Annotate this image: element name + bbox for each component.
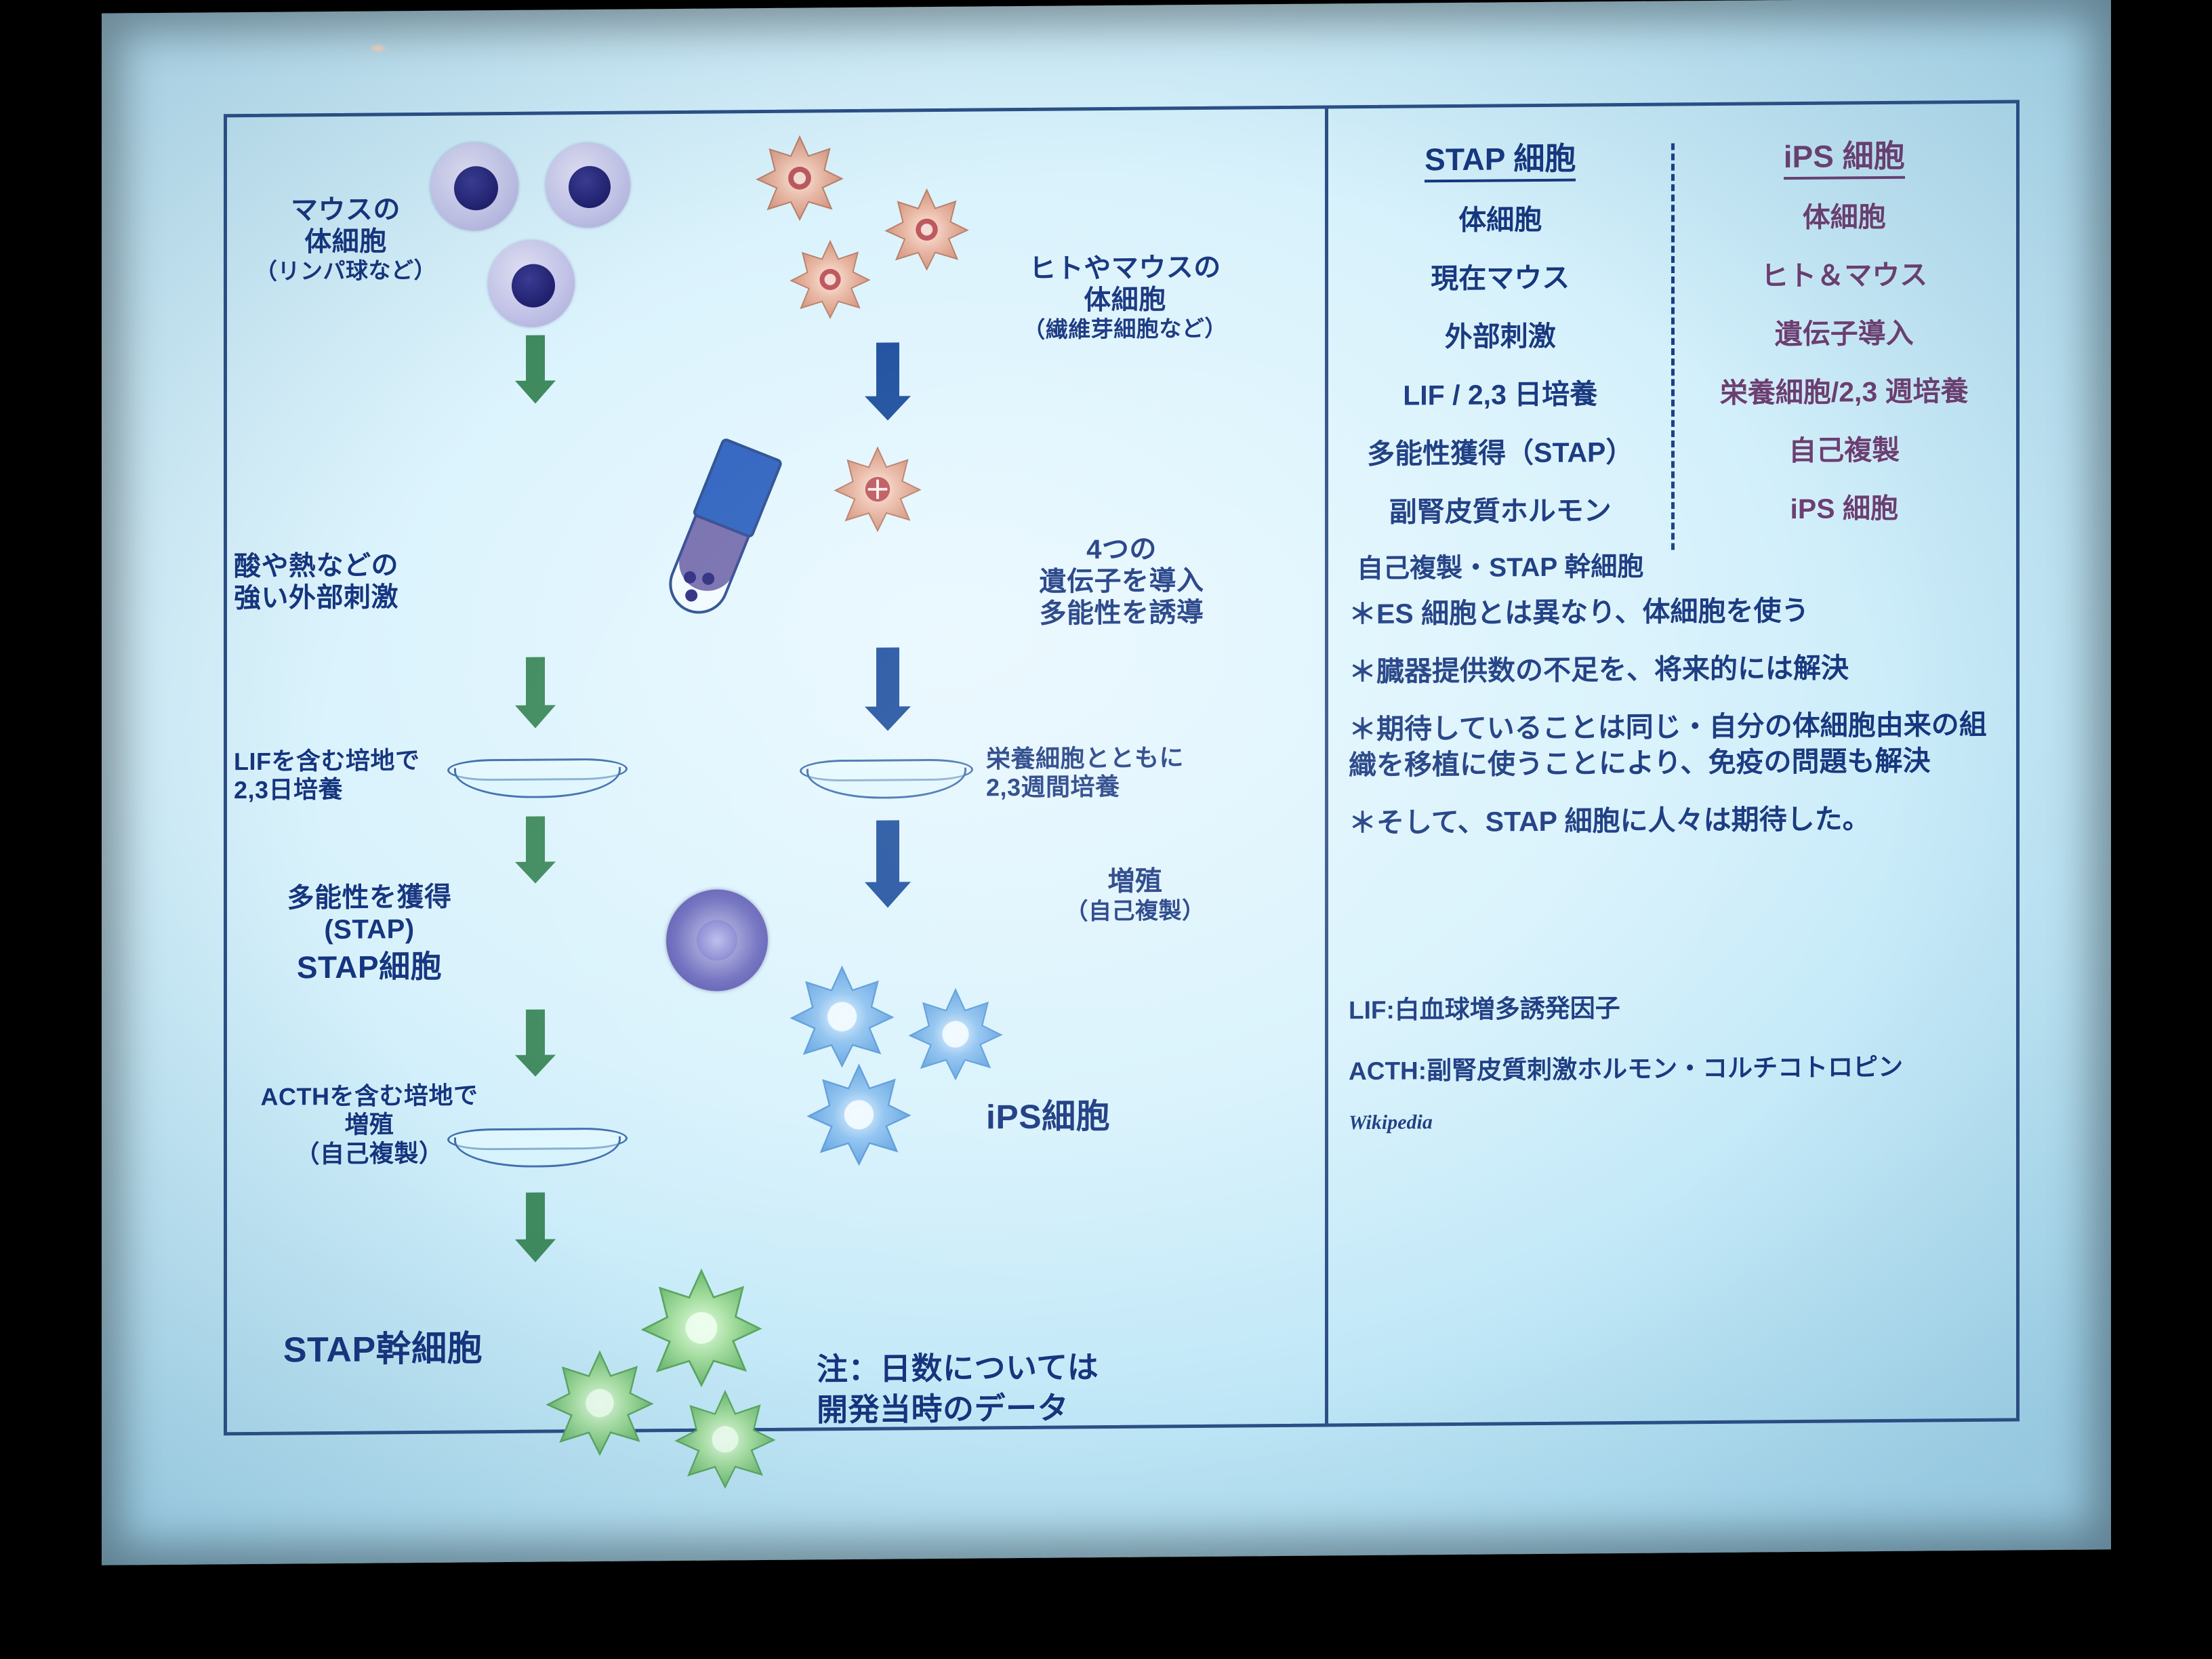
label-line: ACTHを含む培地で [227,1081,512,1112]
cell-ips [1673,542,2017,583]
bullet-item: ＊臓器提供数の不足を、将来的には解決 [1349,653,2016,687]
cell-stap: 現在マウス [1328,253,1673,297]
mouse-somatic-label: マウスの 体細胞 （リンパ球など） [241,194,451,286]
table-row: 副腎皮質ホルモン iPS 細胞 [1328,484,2016,530]
header-stap: STAP 細胞 [1328,133,1673,180]
note-acth: ACTH:副腎皮質刺激ホルモン・コルチコトロピン [1349,1045,2016,1087]
label-line: 多能性を誘導 [972,596,1271,631]
blue-arrow-down [861,342,915,424]
table-row: 外部刺激 遺伝子導入 [1328,309,2016,355]
note-lif: LIF:白血球増多誘発因子 [1349,984,2016,1026]
cell-ips: 自己複製 [1673,426,2017,469]
acth-culture-label: ACTHを含む培地で 増殖 （自己複製） [227,1081,512,1170]
bullet-item: ＊そして、STAP 細胞に人々は期待した。 [1349,804,2016,838]
lif-culture-label: LIFを含む培地で 2,3日培養 [234,746,451,805]
projected-slide-photo: マウスの 体細胞 （リンパ球など） [0,0,2212,1659]
projector-hotspot [369,43,387,53]
ips-cell-label: iPS細胞 [986,1095,1244,1137]
label-line: 栄養細胞とともに [986,743,1277,774]
stap-stem-cell-icon [546,1347,654,1456]
cell-stap: 多能性獲得（STAP） [1328,428,1673,472]
fibroblast-cell-icon [884,186,969,272]
projection-screen: マウスの 体細胞 （リンパ球など） [102,0,2111,1565]
cell-stap: 副腎皮質ホルモン [1328,487,1673,530]
pluripotency-label: 多能性を獲得 (STAP) STAP細胞 [227,881,512,987]
diagram-column: マウスの 体細胞 （リンパ球など） [227,108,1325,1432]
green-arrow-down [512,657,559,732]
green-arrow-down [512,1192,559,1267]
table-row: 現在マウス ヒト＆マウス [1328,251,2016,297]
label-line: ヒトやマウスの [979,251,1271,286]
label-line: 体細胞 [241,226,451,260]
cell-ips: 遺伝子導入 [1673,309,2017,352]
green-arrow-down [512,816,559,888]
comparison-column: STAP 細胞 iPS 細胞 体細胞 体細胞 現在マウス ヒト＆マウス [1328,103,2016,1423]
table-row: LIF / 2,3 日培養 栄養細胞/2,3 週培養 [1328,367,2016,413]
stap-stem-cell-label: STAP幹細胞 [241,1328,525,1372]
label-line: （繊維芽細胞など） [979,315,1271,344]
table-row: 自己複製・STAP 幹細胞 [1328,542,2016,586]
abbreviation-notes: LIF:白血球増多誘発因子 ACTH:副腎皮質刺激ホルモン・コルチコトロピン W… [1349,984,2016,1159]
green-arrow-down [512,1009,559,1081]
ips-cell-icon [790,962,895,1068]
blue-arrow-down [861,820,915,912]
reprogrammed-cell-icon [834,444,922,533]
label-line: 遺伝子を導入 [972,565,1271,599]
cell-ips: ヒト＆マウス [1673,251,2017,294]
label-line: LIFを含む培地で [234,746,451,777]
label-line: 強い外部刺激 [234,581,525,615]
fibroblast-cell-icon [756,133,844,222]
cell-stap: 自己複製・STAP 幹細胞 [1328,545,1673,586]
label-line: 開発当時のデータ [817,1387,1250,1431]
blue-arrow-down [861,647,915,736]
label-line: 多能性を獲得 [227,881,512,915]
label-line: （自己複製） [227,1139,512,1170]
comparison-table: STAP 細胞 iPS 細胞 体細胞 体細胞 現在マウス ヒト＆マウス [1328,130,2016,586]
slide-frame: マウスの 体細胞 （リンパ球など） [224,100,2020,1435]
feeder-culture-label: 栄養細胞とともに 2,3週間培養 [986,743,1277,802]
stimulus-label: 酸や熱などの 強い外部刺激 [234,549,525,615]
cell-stap: LIF / 2,3 日培養 [1328,370,1673,413]
ips-cell-icon [908,985,1003,1081]
table-row: 多能性獲得（STAP） 自己複製 [1328,426,2016,472]
proliferation-label: 増殖 （自己複製） [1000,865,1271,926]
label-line: (STAP) [227,913,512,947]
label-line: 2,3日培養 [234,775,451,805]
bullet-list: ＊ES 細胞とは異なり、体細胞を使う ＊臓器提供数の不足を、将来的には解決 ＊期… [1349,594,2016,866]
ips-cell-icon [806,1061,912,1166]
label-line: STAP細胞 [227,947,512,987]
bullet-item: ＊ES 細胞とは異なり、体細胞を使う [1349,594,2016,629]
days-footnote: 注：日数については 開発当時のデータ [817,1346,1250,1431]
human-mouse-somatic-label: ヒトやマウスの 体細胞 （繊維芽細胞など） [979,251,1271,344]
comparison-header-row: STAP 細胞 iPS 細胞 [1328,130,2016,180]
fibroblast-cell-icon [790,238,871,320]
header-ips-text: iPS 細胞 [1784,138,1905,180]
stap-stem-cell-icon [674,1387,776,1490]
label-line: 体細胞 [979,283,1271,318]
label-line: 増殖 [227,1109,512,1141]
header-stap-text: STAP 細胞 [1425,141,1576,183]
cell-ips: 栄養細胞/2,3 週培養 [1673,367,2017,411]
gene-transfer-label: 4つの 遺伝子を導入 多能性を誘導 [972,533,1271,631]
stap-cell-icon [666,889,768,991]
culture-dish-icon [800,759,969,808]
green-arrow-down [512,335,559,403]
label-line: 注：日数については [817,1346,1250,1390]
test-tube-icon [627,426,804,655]
cell-ips: iPS 細胞 [1673,484,2017,527]
cell-stap: 体細胞 [1328,195,1673,239]
label-line: 酸や熱などの [234,549,525,583]
table-row: 体細胞 体細胞 [1328,192,2016,239]
label-line: 2,3週間培養 [986,771,1277,802]
label-line: （リンパ球など） [241,258,451,285]
cell-stap: 外部刺激 [1328,312,1673,355]
lymphocyte-cell [488,240,575,327]
stap-stem-cell-icon [640,1265,762,1388]
bullet-item-continuation: 織を移植に使うことにより、免疫の問題も解決 [1349,746,2016,781]
culture-dish-icon [447,758,623,807]
label-line: （自己複製） [1000,897,1271,926]
label-line: 増殖 [1000,865,1271,899]
label-line: マウスの [241,194,451,228]
source-citation: Wikipedia [1349,1106,2016,1134]
label-line: 4つの [972,533,1271,567]
bullet-item: ＊期待していることは同じ・自分の体細胞由来の組 [1349,710,2016,745]
lymphocyte-cell [546,143,630,228]
header-ips: iPS 細胞 [1673,130,2017,178]
cell-ips: 体細胞 [1673,192,2017,236]
